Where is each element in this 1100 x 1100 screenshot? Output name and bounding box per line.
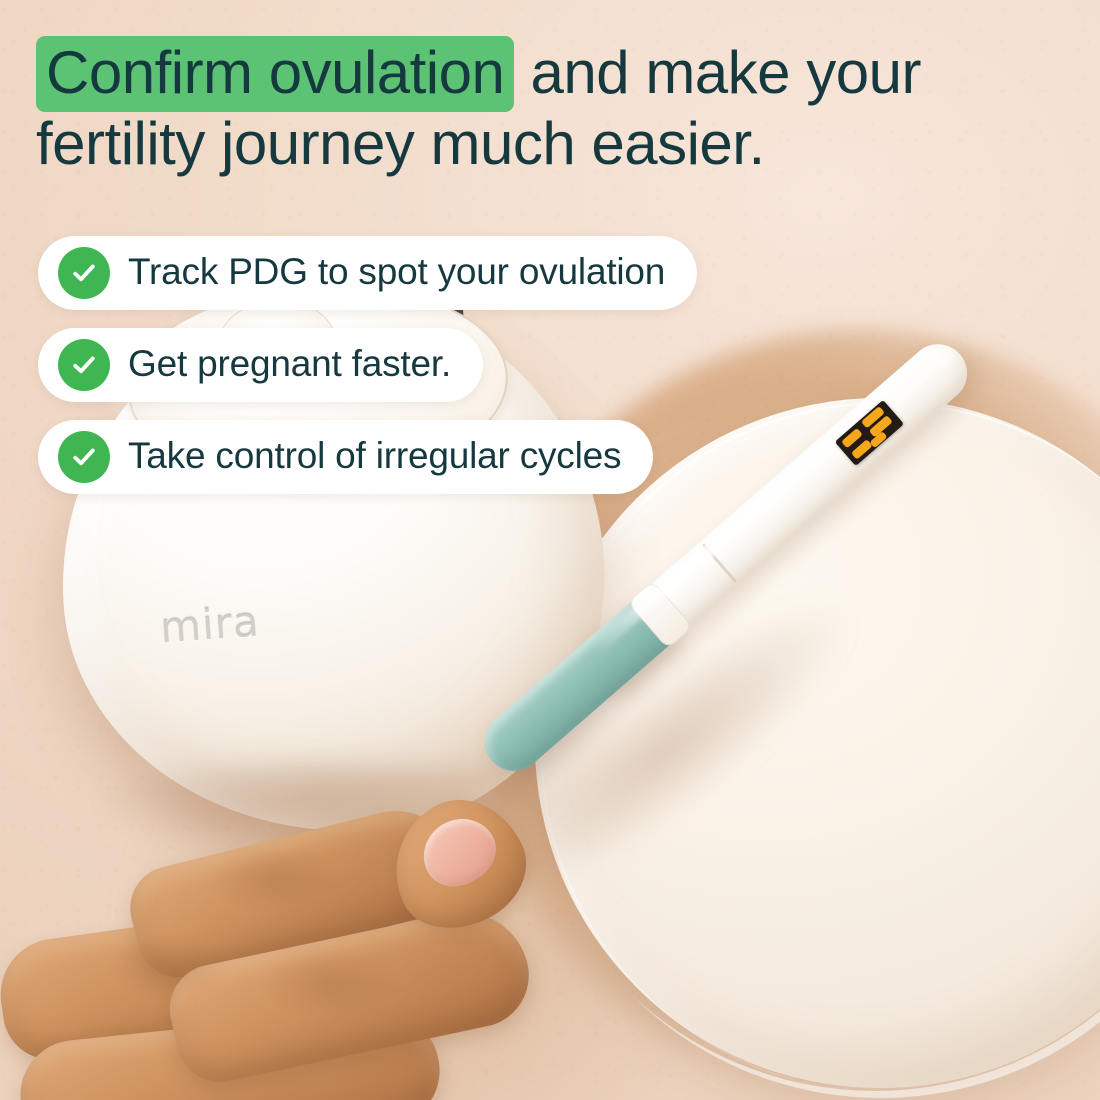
ad-canvas: mira Conf (0, 0, 1100, 1100)
benefit-item-track-pdg[interactable]: Track PDG to spot your ovulation (38, 236, 697, 310)
benefit-list: Track PDG to spot your ovulation Get pre… (38, 236, 697, 494)
check-circle-icon (58, 339, 110, 391)
benefit-item-irregular-cycles[interactable]: Take control of irregular cycles (38, 420, 653, 494)
benefit-label: Track PDG to spot your ovulation (128, 253, 665, 293)
benefit-item-get-pregnant-faster[interactable]: Get pregnant faster. (38, 328, 483, 402)
benefit-label: Get pregnant faster. (128, 345, 451, 385)
headline-highlight: Confirm ovulation (36, 36, 514, 112)
check-circle-icon (58, 247, 110, 299)
check-circle-icon (58, 431, 110, 483)
benefit-label: Take control of irregular cycles (128, 437, 621, 477)
page-title: Confirm ovulation and make yourfertility… (36, 38, 996, 180)
headline-line1-rest: and make your (514, 39, 921, 106)
ad-copy-overlay: Confirm ovulation and make yourfertility… (0, 0, 1100, 1100)
headline-line2: fertility journey much easier. (36, 110, 765, 177)
